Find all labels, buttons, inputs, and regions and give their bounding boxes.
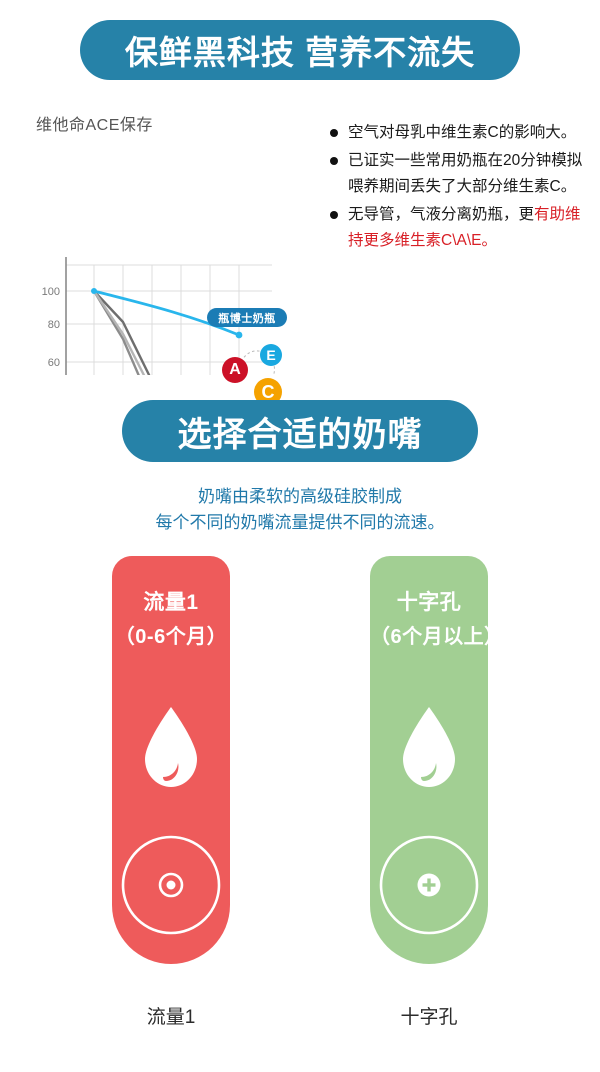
bullet-text: 空气对母乳中维生素C的影响大。 [348, 120, 586, 146]
droplet-icon [140, 704, 202, 795]
svg-text:60: 60 [48, 357, 60, 369]
chart-series-label-dr-bottle: 瓶博士奶瓶 [207, 308, 287, 327]
single-hole-icon [120, 834, 222, 941]
bullet-text: 已证实一些常用奶瓶在20分钟模拟喂养期间丢失了大部分维生素C。 [348, 148, 586, 200]
cross-hole-icon [378, 834, 480, 941]
nipple-card-title: 流量1 [112, 586, 230, 620]
headline-banner-text: 保鲜黑科技 营养不流失 [125, 26, 475, 74]
nipple-card-caption-cross-hole: 十字孔 [349, 1002, 509, 1029]
vitamin-e-badge: E [260, 344, 282, 366]
nipple-subtitle: 奶嘴由柔软的高级硅胶制成 每个不同的奶嘴流量提供不同的流速。 [0, 484, 600, 536]
list-item: 已证实一些常用奶瓶在20分钟模拟喂养期间丢失了大部分维生素C。 [330, 148, 586, 200]
bullet-dot-icon [330, 129, 338, 137]
list-item: 空气对母乳中维生素C的影响大。 [330, 120, 586, 146]
nipple-card-title: 十字孔 [370, 586, 488, 620]
nipple-card-subtitle: （6个月以上） [370, 620, 488, 654]
nipple-card-cross-hole[interactable]: 十字孔 （6个月以上） [370, 556, 488, 964]
headline-banner-preservation: 保鲜黑科技 营养不流失 [80, 20, 520, 80]
svg-text:100: 100 [42, 286, 60, 298]
bullet-text-plain: 无导管，气液分离奶瓶，更 [348, 206, 534, 223]
vitamin-preservation-chart: 维他命ACE保存 100 80 60 40 20 [22, 105, 322, 375]
svg-text:80: 80 [48, 319, 60, 331]
nipple-card-title-block: 流量1 （0-6个月） [112, 586, 230, 654]
nipple-card-flow1[interactable]: 流量1 （0-6个月） [112, 556, 230, 964]
list-item: 无导管，气液分离奶瓶，更有助维持更多维生素C\A\E。 [330, 202, 586, 254]
droplet-icon [398, 704, 460, 795]
nipple-card-caption-flow1: 流量1 [91, 1002, 251, 1029]
nipple-card-subtitle: （0-6个月） [112, 620, 230, 654]
nipple-subtitle-line2: 每个不同的奶嘴流量提供不同的流速。 [0, 510, 600, 536]
nipple-card-title-block: 十字孔 （6个月以上） [370, 586, 488, 654]
bullet-dot-icon [330, 211, 338, 219]
chart-plot-area: 100 80 60 40 20 0 4 8 12 16 20 24 分钟 [22, 105, 322, 375]
headline-banner-text: 选择合适的奶嘴 [178, 407, 423, 456]
benefits-bullet-list: 空气对母乳中维生素C的影响大。 已证实一些常用奶瓶在20分钟模拟喂养期间丢失了大… [330, 120, 586, 256]
nipple-subtitle-line1: 奶嘴由柔软的高级硅胶制成 [0, 484, 600, 510]
bullet-text-mixed: 无导管，气液分离奶瓶，更有助维持更多维生素C\A\E。 [348, 202, 586, 254]
bullet-dot-icon [330, 157, 338, 165]
vitamin-a-badge: A [222, 357, 248, 383]
headline-banner-choose-nipple: 选择合适的奶嘴 [122, 400, 478, 462]
